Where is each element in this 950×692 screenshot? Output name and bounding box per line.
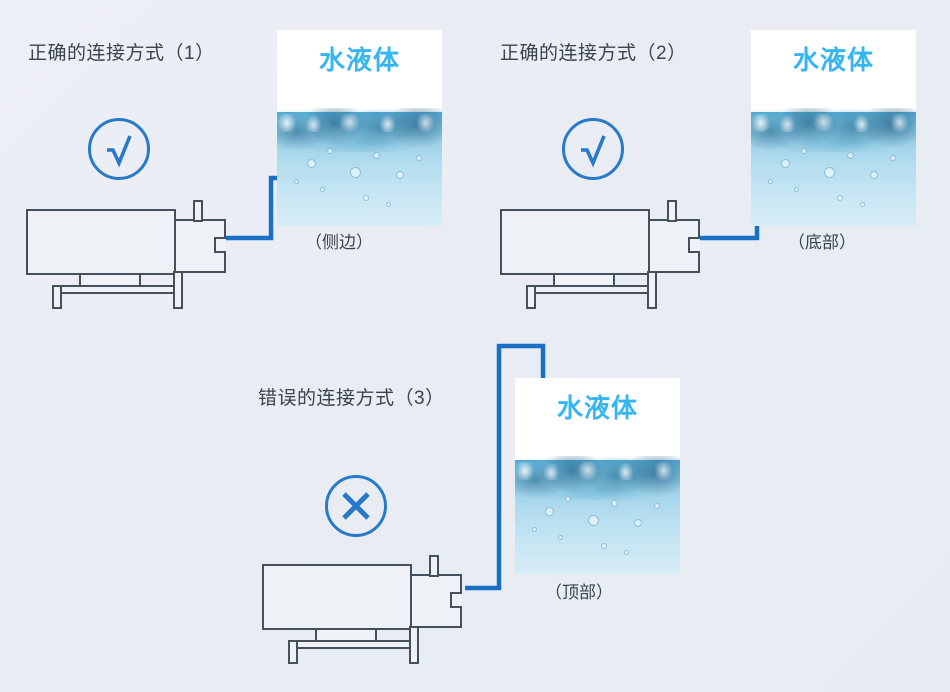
water-tank-panel-2: 水液体 — [751, 30, 916, 226]
cross-mark-icon — [325, 475, 387, 537]
panel-2-title: 正确的连接方式（2） — [500, 38, 687, 65]
tank-label-panel-2: 水液体 — [751, 40, 916, 77]
panel-3-title: 错误的连接方式（3） — [258, 383, 445, 410]
water-tank-panel-3: 水液体 — [515, 378, 680, 574]
caption-panel-2: （底部） — [788, 228, 856, 253]
caption-panel-1: （侧边） — [305, 228, 373, 253]
check-mark-icon — [562, 118, 624, 180]
caption-panel-3: （顶部） — [545, 578, 613, 603]
panel-1-title: 正确的连接方式（1） — [28, 38, 215, 65]
pump-panel-1 — [26, 200, 226, 310]
diagram-canvas: 正确的连接方式（1） — [0, 0, 950, 692]
check-mark-icon — [88, 118, 150, 180]
water-tank-panel-1: 水液体 — [277, 30, 442, 226]
pump-panel-2 — [500, 200, 700, 310]
tank-label-panel-1: 水液体 — [277, 40, 442, 77]
pump-panel-3 — [262, 555, 462, 665]
tank-label-panel-3: 水液体 — [515, 388, 680, 425]
